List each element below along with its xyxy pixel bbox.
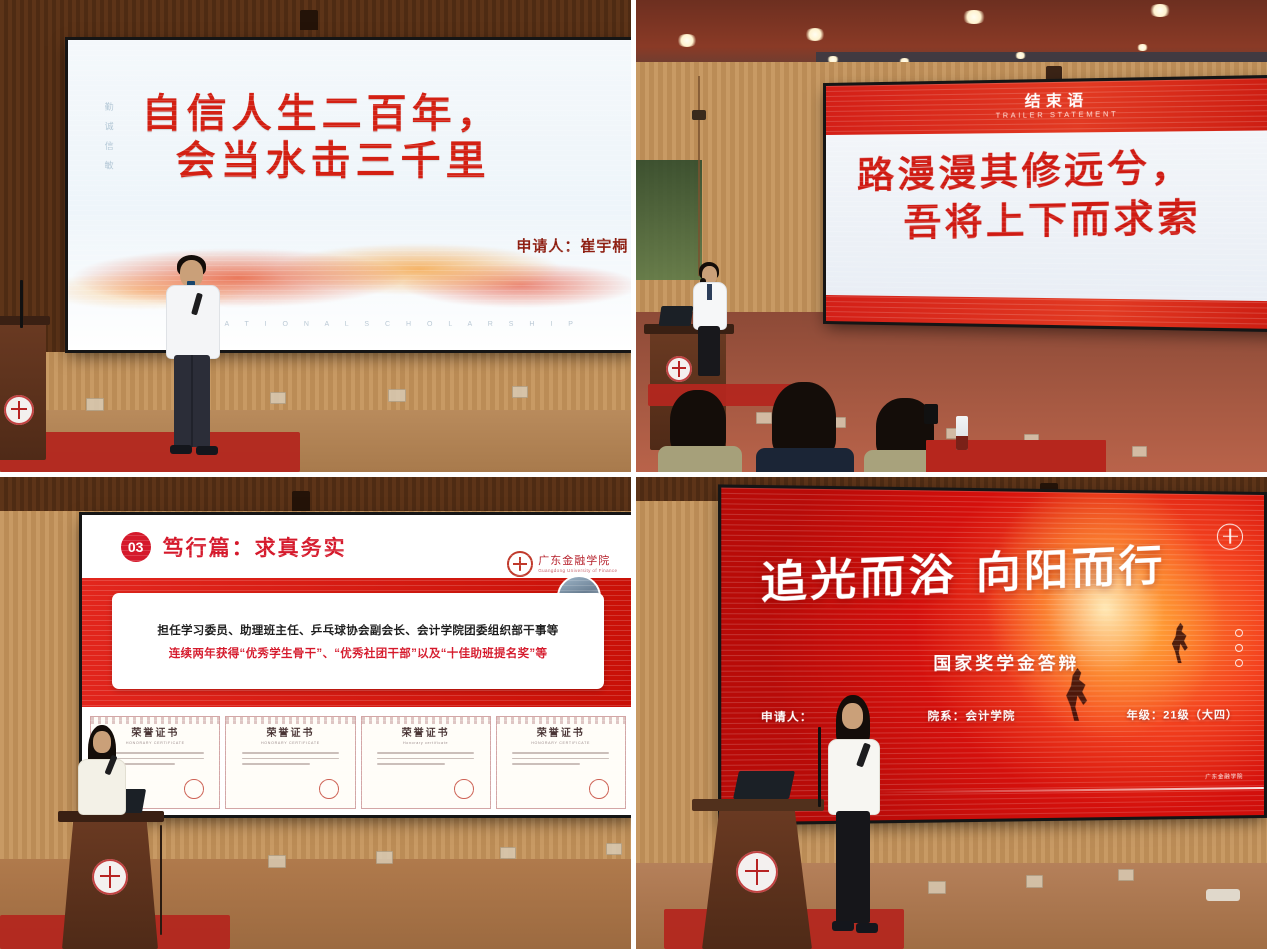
shoe-left — [832, 921, 854, 931]
wall-outlet — [388, 389, 406, 402]
slide-poem-line-2: 吾将上下而求索 — [904, 190, 1267, 247]
certificate-item: 荣誉证书 HONORARY CERTIFICATE — [225, 716, 355, 809]
certificate-item: 荣誉证书 HONORARY CERTIFICATE — [496, 716, 626, 809]
trousers — [836, 811, 870, 923]
ceiling — [0, 477, 631, 511]
mic-stand — [818, 727, 821, 807]
wall-outlet — [1118, 869, 1134, 881]
wall-outlet — [512, 386, 528, 398]
podium-top — [0, 316, 50, 325]
audience-table — [926, 440, 1106, 472]
certificate-seal — [454, 779, 474, 799]
speaker-person — [826, 695, 892, 945]
clothing — [658, 446, 742, 472]
blouse — [828, 739, 880, 815]
wall-seam — [698, 76, 700, 276]
university-logo-text: 广东金融学院 Guangdong University of Finance — [538, 555, 617, 573]
certificate-border-decoration — [362, 717, 490, 724]
photo-panel-bottom-right: 追光而浴 向阳而行 国家奖学金答辩 申请人： 院系：会计学院 年级：21级（大四… — [636, 477, 1267, 949]
downlight — [1014, 52, 1027, 59]
slide-english-footer: N A T I O N A L S C H O L A R S H I P — [204, 321, 580, 328]
podium — [0, 320, 46, 460]
slide-footer: 广东金融学院 — [1205, 772, 1243, 780]
shirt — [166, 285, 220, 359]
university-name-en: Guangdong University of Finance — [538, 568, 617, 573]
slide-dot-decorations — [1235, 629, 1243, 667]
slide-title-line-2: 会当水击三千里 — [176, 137, 617, 184]
hair — [772, 382, 836, 458]
wall-outlet — [928, 881, 946, 894]
certificate-border-decoration — [497, 717, 625, 724]
shoe-right — [856, 923, 878, 933]
laptop — [733, 771, 795, 799]
meta-grade: 年级：21级（大四） — [1126, 706, 1238, 723]
university-name-cn: 广东金融学院 — [538, 555, 617, 568]
slide-poem: 路漫漫其修远兮， 吾将上下而求索 — [857, 138, 1267, 248]
certificate-border-decoration — [91, 717, 219, 724]
certificate-title: 荣誉证书 — [537, 724, 585, 739]
blouse — [78, 759, 126, 815]
slide-title: 自信人生二百年， 会当水击三千里 — [142, 90, 617, 184]
head — [842, 703, 863, 729]
mic-stand — [20, 280, 23, 328]
certificate-seal — [319, 779, 339, 799]
certificate-gallery: 荣誉证书 HONORARY CERTIFICATE 荣誉证书 HONORARY … — [90, 716, 625, 809]
wall-speaker — [692, 110, 706, 120]
presentation-screen: 03 笃行篇：求真务实 广东金融学院 Guangdong University … — [82, 515, 631, 815]
slide-applicant-label: 申请人：崔宇桐 — [516, 235, 628, 256]
audience-member — [656, 390, 746, 472]
slide-side-vertical-text: 勤 诚 信 敏 — [91, 102, 117, 174]
laptop — [659, 306, 694, 326]
slide-content-card: 担任学习委员、助理班主任、乒乓球协会副会长、会计学院团委组织部干事等 连续两年获… — [112, 593, 603, 689]
certificate-subtitle: Honorary certificate — [403, 741, 448, 745]
slide-body-line-2: 连续两年获得“优秀学生骨干”、“优秀社团干部”以及“十佳助班提名奖”等 — [169, 645, 548, 661]
certificate-item: 荣誉证书 Honorary certificate — [361, 716, 491, 809]
wall-outlet — [1132, 446, 1147, 457]
water-bottle — [956, 416, 968, 450]
photo-panel-top-right: 结束语 TRAILER STATEMENT 路漫漫其修远兮， 吾将上下而求索 — [636, 0, 1267, 472]
downlight — [961, 10, 987, 24]
speaker-person — [160, 255, 240, 460]
photo-panel-top-left: 勤 诚 信 敏 自信人生二百年， 会当水击三千里 申请人：崔宇桐 N A T I… — [0, 0, 631, 472]
section-title: 笃行篇：求真务实 — [163, 532, 347, 562]
certificate-text-lines — [512, 752, 609, 769]
university-logo: 广东金融学院 Guangdong University of Finance — [507, 551, 617, 577]
ceiling-projector — [292, 491, 310, 513]
meta-applicant: 申请人： — [761, 708, 813, 725]
head — [93, 731, 111, 753]
speaker-person — [78, 725, 134, 845]
neck-ribbon — [707, 284, 712, 300]
downlight — [804, 28, 826, 41]
wall-outlet — [270, 392, 286, 404]
university-emblem — [666, 356, 692, 382]
podium-top — [692, 799, 824, 811]
certificate-text-lines — [377, 752, 474, 769]
university-emblem — [4, 395, 34, 425]
wall-outlet — [86, 398, 104, 411]
certificate-subtitle: HONORARY CERTIFICATE — [261, 741, 320, 745]
wall-outlet — [376, 851, 393, 864]
wall-outlet — [1026, 875, 1043, 888]
skirt-legs — [698, 326, 720, 376]
clothing — [756, 448, 854, 472]
slide-subtitle: 国家奖学金答辩 — [933, 648, 1079, 674]
presentation-screen: 勤 诚 信 敏 自信人生二百年， 会当水击三千里 申请人：崔宇桐 N A T I… — [68, 40, 631, 350]
certificate-border-decoration — [226, 717, 354, 724]
cable — [160, 825, 162, 935]
shoe-left — [170, 445, 192, 454]
presentation-screen: 结束语 TRAILER STATEMENT 路漫漫其修远兮， 吾将上下而求索 — [826, 78, 1267, 330]
speaker-person — [690, 262, 732, 392]
wall-outlet — [500, 847, 516, 859]
downlight — [676, 34, 698, 47]
downlight — [1136, 44, 1149, 51]
phone — [924, 404, 938, 424]
trouser-seam — [191, 355, 193, 447]
certificate-subtitle: HONORARY CERTIFICATE — [531, 741, 590, 745]
certificate-title: 荣誉证书 — [266, 724, 314, 739]
downlight — [1148, 4, 1172, 17]
slide-cloud-graphic — [68, 201, 631, 325]
certificate-text-lines — [242, 752, 339, 769]
wall-outlet — [268, 855, 286, 868]
floor-equipment — [1206, 889, 1240, 901]
certificate-seal — [184, 779, 204, 799]
section-number-badge: 03 — [121, 532, 151, 562]
meta-department: 院系：会计学院 — [927, 707, 1015, 724]
university-mark-icon — [507, 551, 533, 577]
university-emblem — [736, 851, 778, 893]
certificate-title: 荣誉证书 — [402, 724, 450, 739]
shoe-right — [196, 446, 218, 455]
slide-title-line-1: 自信人生二百年， — [142, 90, 617, 137]
photo-collage: 勤 诚 信 敏 自信人生二百年， 会当水击三千里 申请人：崔宇桐 N A T I… — [0, 0, 1267, 950]
ceiling-projector — [300, 10, 318, 32]
presentation-screen: 追光而浴 向阳而行 国家奖学金答辩 申请人： 院系：会计学院 年级：21级（大四… — [721, 488, 1264, 823]
wall-outlet — [606, 843, 622, 855]
slide-body-line-1: 担任学习委员、助理班主任、乒乓球协会副会长、会计学院团委组织部干事等 — [157, 622, 558, 638]
certificate-subtitle: HONORARY CERTIFICATE — [126, 741, 185, 745]
photo-panel-bottom-left: 03 笃行篇：求真务实 广东金融学院 Guangdong University … — [0, 477, 631, 949]
certificate-title: 荣誉证书 — [131, 724, 179, 739]
university-emblem — [92, 859, 128, 895]
audience-member — [756, 382, 856, 472]
certificate-seal — [589, 779, 609, 799]
